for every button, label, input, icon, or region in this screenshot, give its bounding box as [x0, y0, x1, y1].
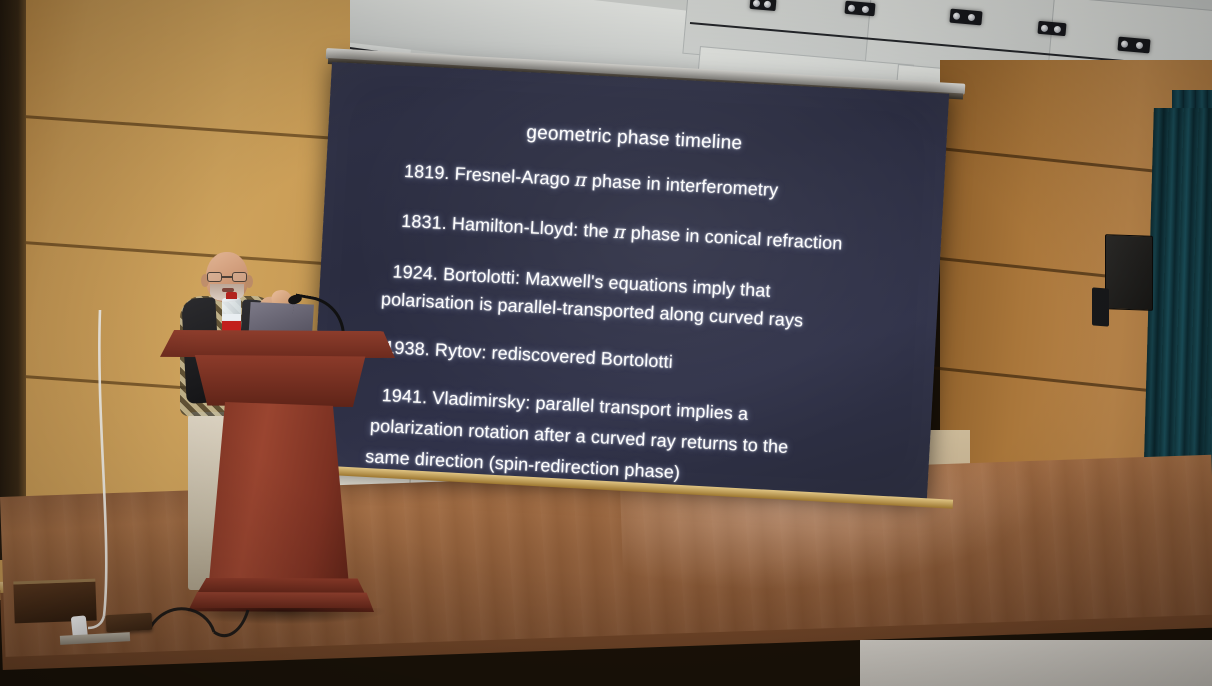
loudspeaker-mount-bracket [1092, 287, 1109, 326]
wall-loudspeaker [1105, 234, 1153, 311]
slide-line-1831: 1831. Hamilton-Lloyd: the π phase in con… [401, 211, 843, 255]
eyeglass-lens-right [232, 272, 247, 282]
eyeglass-bridge [222, 276, 232, 278]
ceiling-light-4 [1117, 37, 1150, 54]
projection-screen[interactable]: geometric phase timeline 1819. Fresnel-A… [309, 62, 949, 505]
hall-floor [860, 640, 1212, 686]
lecture-hall-scene: geometric phase timeline 1819. Fresnel-A… [0, 0, 1212, 686]
lectern-column [208, 402, 350, 597]
wall-left-recess [0, 0, 26, 560]
lectern-floor-shadow [180, 608, 385, 624]
bottle-cap [226, 292, 237, 299]
eyeglass-lens-left [207, 272, 222, 282]
lectern-top-surface [160, 330, 395, 358]
ceiling-light-3 [1037, 21, 1066, 36]
lectern [160, 330, 395, 630]
eyeglasses-icon [206, 272, 248, 282]
power-strip [106, 613, 153, 632]
ceiling-light-2 [949, 9, 982, 26]
slide-title: geometric phase timeline [526, 122, 743, 155]
slide-line-1938: 1938. Rytov: rediscovered Bortolotti [384, 337, 674, 373]
presentation-slide: geometric phase timeline 1819. Fresnel-A… [309, 62, 949, 505]
projection-screen-assembly: geometric phase timeline 1819. Fresnel-A… [332, 52, 952, 482]
slide-line-1819: 1819. Fresnel-Arago π phase in interfero… [404, 161, 779, 201]
ceiling-light-1 [844, 1, 875, 17]
lectern-apron [174, 355, 382, 407]
